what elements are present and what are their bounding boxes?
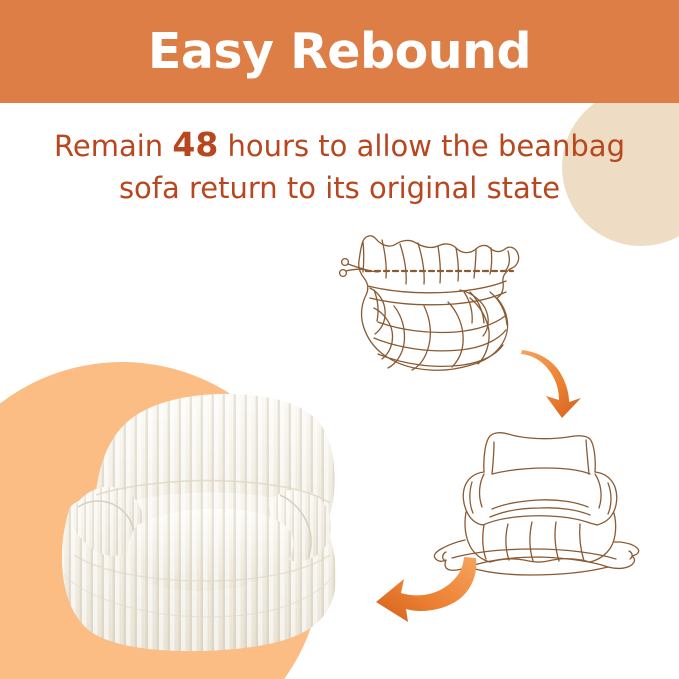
compressed-beanbag-illustration [330, 226, 545, 381]
subtitle-hours-number: 48 [172, 125, 218, 164]
subtitle-text: Remain 48 hours to allow the beanbag sof… [0, 124, 679, 209]
arrow-down-icon [518, 348, 600, 420]
arrow-left-icon [368, 556, 480, 626]
promo-image: Easy Rebound Remain 48 hours to allow th… [0, 0, 679, 679]
header-banner: Easy Rebound [0, 0, 679, 103]
beanbag-sofa-photo [38, 375, 358, 665]
subtitle-line-1: Remain 48 hours to allow the beanbag [0, 124, 679, 167]
subtitle-line-2: sofa return to its original state [0, 167, 679, 209]
subtitle-after: hours to allow the beanbag [228, 129, 625, 163]
page-title: Easy Rebound [148, 27, 531, 76]
subtitle-before: Remain [54, 129, 163, 163]
